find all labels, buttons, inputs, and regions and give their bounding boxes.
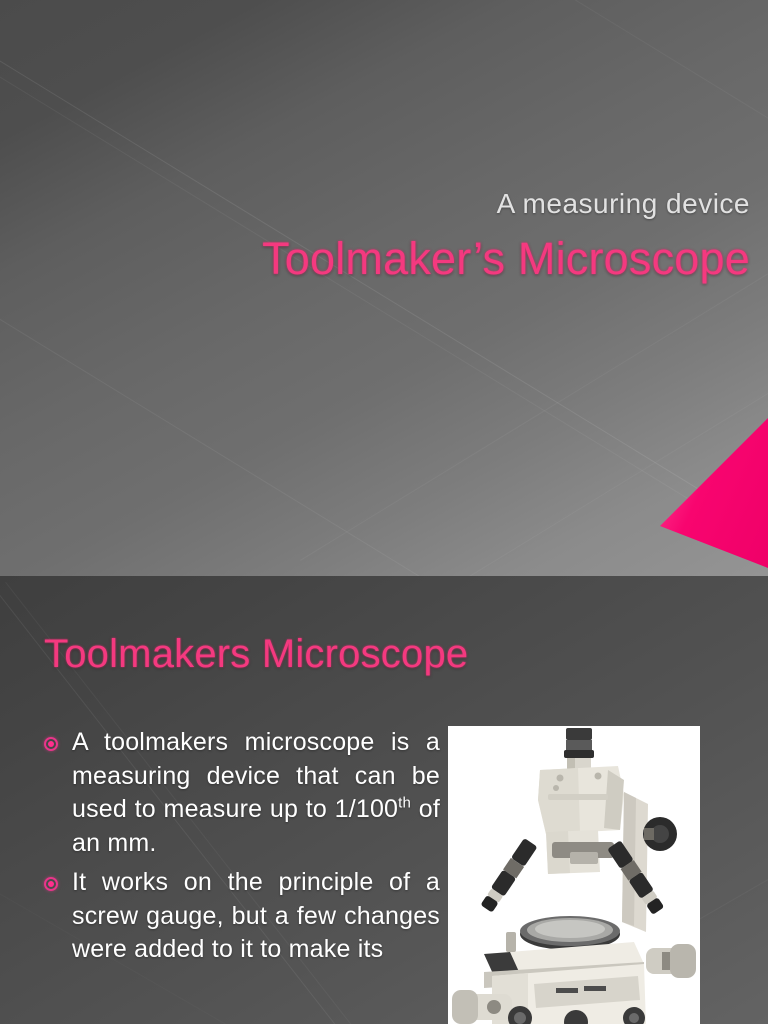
- slide-title-text: Toolmaker’s Microscope: [0, 233, 750, 285]
- slide-content: Toolmakers Microscope A toolmakers micro…: [0, 576, 768, 1024]
- list-item: It works on the principle of a screw gau…: [44, 866, 440, 967]
- bullet-text: It works on the principle of a screw gau…: [72, 866, 440, 967]
- background-streaks: [0, 0, 768, 576]
- list-item: A toolmakers microscope is a measuring d…: [44, 726, 440, 860]
- bullet-ring-icon: [44, 737, 58, 751]
- bullet-text: A toolmakers microscope is a measuring d…: [72, 726, 440, 860]
- title-block: A measuring device Toolmaker’s Microscop…: [0, 186, 750, 285]
- microscope-photo: [448, 726, 700, 1024]
- pink-accent-triangle: [660, 418, 768, 568]
- slide-title: A measuring device Toolmaker’s Microscop…: [0, 0, 768, 576]
- content-row: A toolmakers microscope is a measuring d…: [0, 726, 768, 1024]
- presentation-deck: A measuring device Toolmaker’s Microscop…: [0, 0, 768, 1024]
- bullet-ring-icon: [44, 877, 58, 891]
- bullet-lead: A toolmakers microscope is a measuring d…: [72, 728, 440, 823]
- content-slide-heading: Toolmakers Microscope: [44, 632, 468, 677]
- bullet-list: A toolmakers microscope is a measuring d…: [44, 726, 440, 973]
- slide-subtitle: A measuring device: [0, 186, 750, 221]
- bullet-lead: It works on the principle of a screw gau…: [72, 868, 440, 963]
- bullet-superscript: th: [398, 795, 411, 812]
